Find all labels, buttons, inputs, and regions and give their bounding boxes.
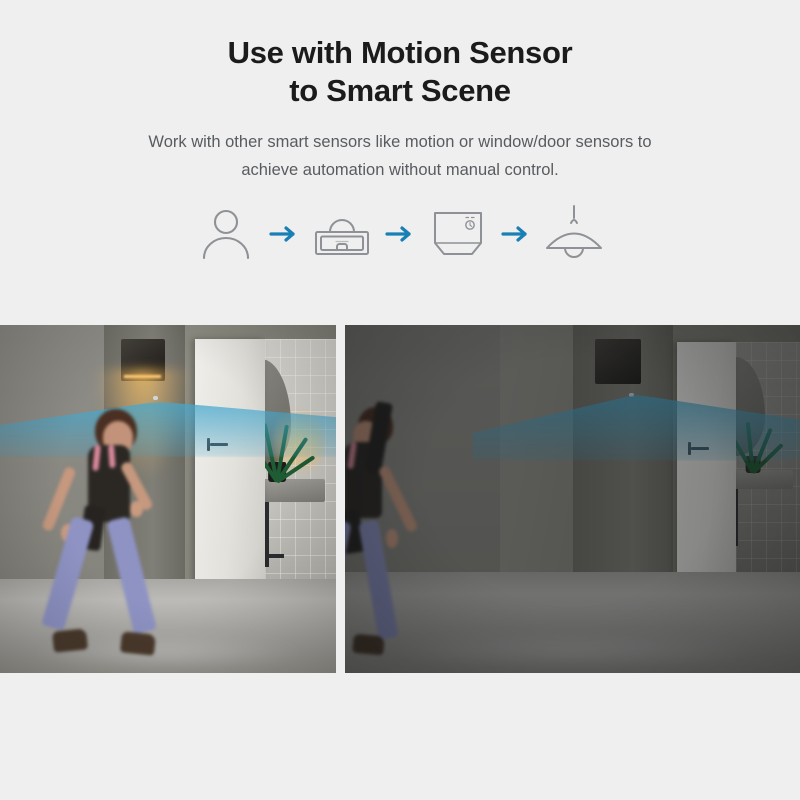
arrow-right-icon — [379, 198, 421, 270]
person-icon — [189, 198, 263, 270]
door-panel — [195, 339, 266, 600]
page-title-line-2: to Smart Scene — [0, 72, 800, 110]
person-walking — [345, 402, 436, 673]
motion-sensor-icon — [305, 198, 379, 270]
door-panel — [677, 342, 736, 579]
page-title: Use with Motion Sensor to Smart Scene — [0, 34, 800, 110]
wall-lamp — [595, 339, 641, 384]
page-subtitle: Work with other smart sensors like motio… — [0, 128, 800, 184]
page-subtitle-line-2: achieve automation without manual contro… — [0, 156, 800, 184]
person-walking — [30, 409, 191, 667]
wall-lamp — [121, 339, 165, 381]
arrow-right-icon — [263, 198, 305, 270]
arrow-right-icon — [495, 198, 537, 270]
comparison-photos — [0, 325, 800, 673]
pendant-lamp-icon — [537, 198, 611, 270]
promo-page: Use with Motion Sensor to Smart Scene Wo… — [0, 0, 800, 800]
page-title-line-1: Use with Motion Sensor — [0, 34, 800, 72]
smart-hub-icon — [421, 198, 495, 270]
motion-detected-light-on-photo — [0, 325, 336, 673]
automation-flow-diagram — [0, 196, 800, 272]
no-motion-light-off-photo — [345, 325, 800, 673]
page-subtitle-line-1: Work with other smart sensors like motio… — [0, 128, 800, 156]
